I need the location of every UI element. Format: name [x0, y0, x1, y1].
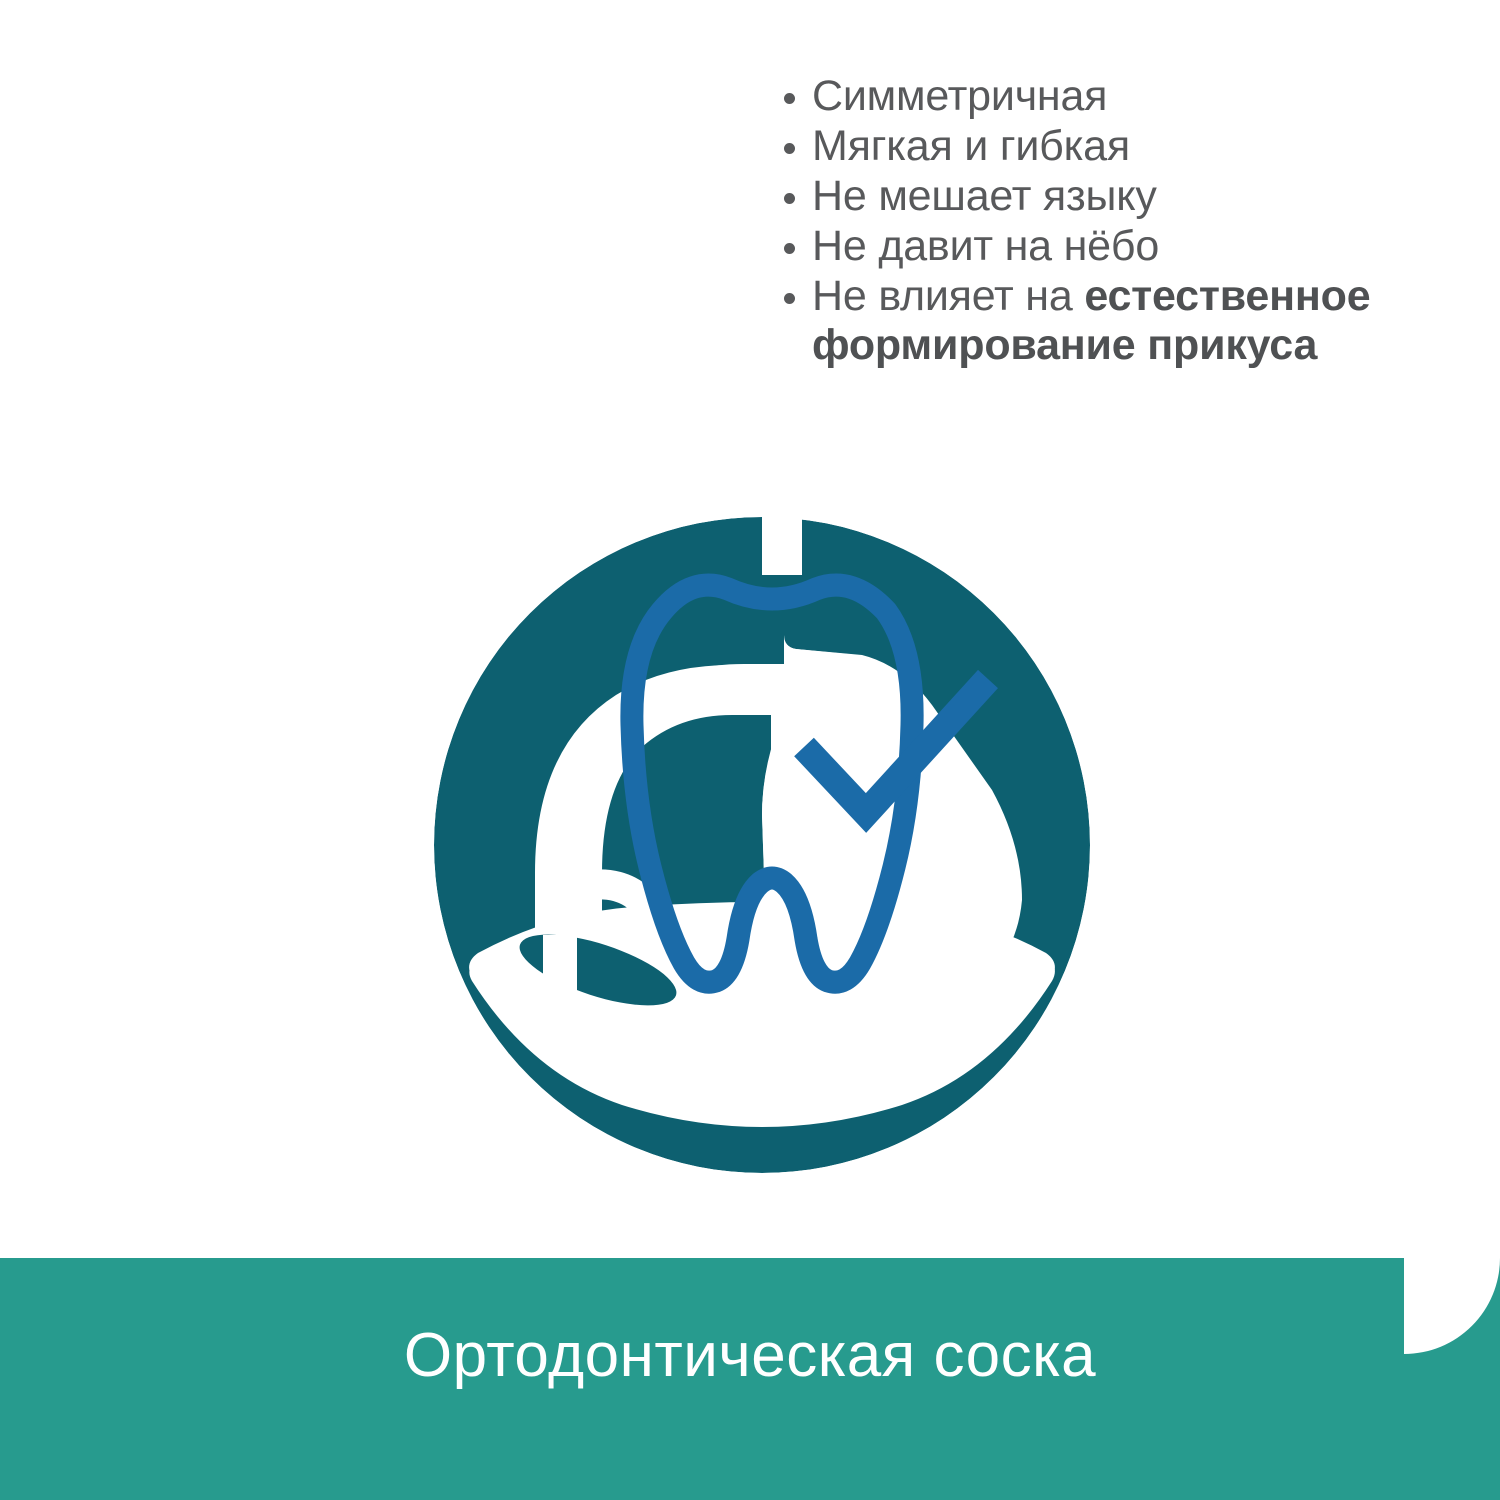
feature-text: Не влияет на [812, 272, 1084, 320]
product-infographic-card: Симметричная Мягкая и гибкая Не мешает я… [0, 0, 1500, 1500]
pacifier-tooth-illustration [432, 515, 1092, 1175]
bullet-point-icon [784, 243, 795, 254]
feature-list: Симметричная Мягкая и гибкая Не мешает я… [780, 72, 1420, 371]
feature-text: Мягкая и гибкая [812, 122, 1130, 170]
list-item: Не влияет на естественное формирование п… [780, 272, 1420, 370]
list-item: Не давит на нёбо [780, 222, 1420, 271]
list-item: Не мешает языку [780, 172, 1420, 221]
feature-text: Не мешает языку [812, 172, 1157, 220]
list-item: Мягкая и гибкая [780, 122, 1420, 171]
feature-text: Симметричная [812, 72, 1107, 120]
bullet-point-icon [784, 143, 795, 154]
bullet-point-icon [784, 93, 795, 104]
bullet-point-icon [784, 293, 795, 304]
bullet-point-icon [784, 193, 795, 204]
feature-text: Не давит на нёбо [812, 222, 1159, 270]
product-title: Ортодонтическая соска [0, 1320, 1500, 1391]
list-item: Симметричная [780, 72, 1420, 121]
